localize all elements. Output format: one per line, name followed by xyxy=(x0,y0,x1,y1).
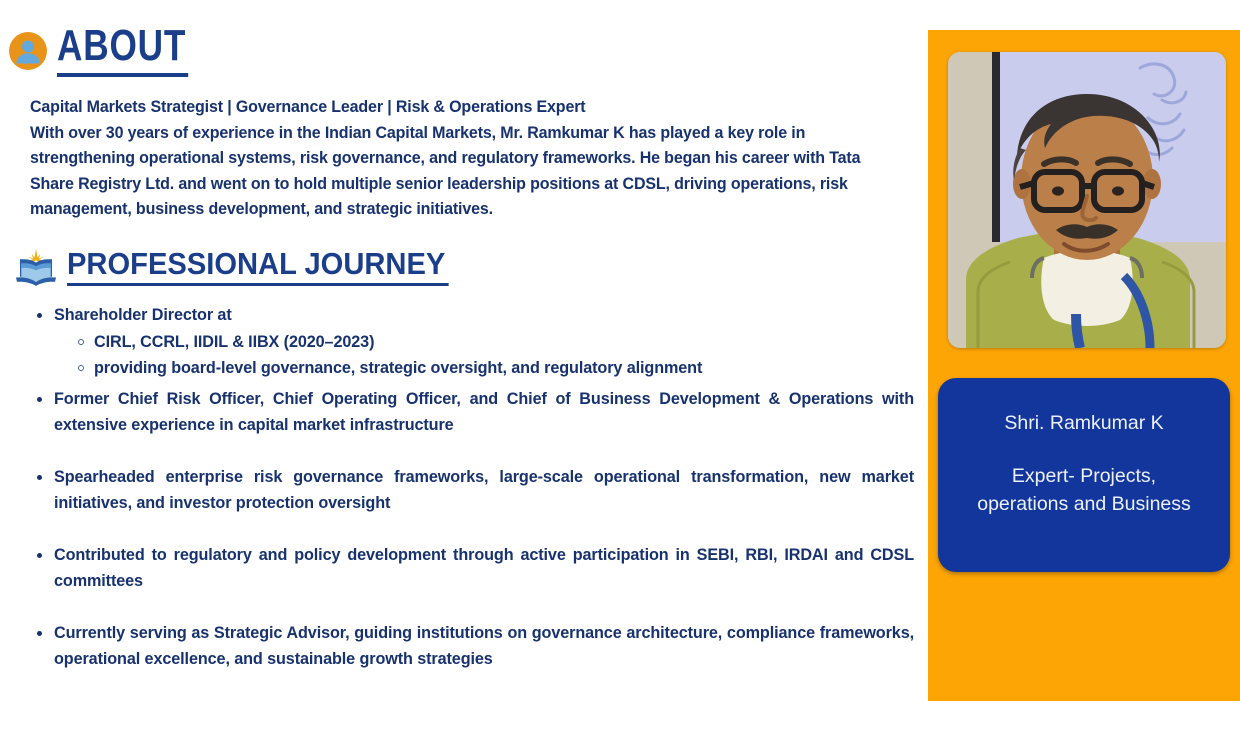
person-circle-icon xyxy=(8,31,48,71)
profile-name-card: Shri. Ramkumar K Expert- Projects, opera… xyxy=(938,378,1230,572)
list-item: Spearheaded enterprise risk governance f… xyxy=(30,465,914,516)
profile-photo xyxy=(948,52,1226,348)
open-book-star-icon xyxy=(14,248,58,286)
list-item-label: Spearheaded enterprise risk governance f… xyxy=(54,465,914,516)
person-name: Shri. Ramkumar K xyxy=(1004,410,1163,436)
about-body: Capital Markets Strategist | Governance … xyxy=(30,94,883,222)
sub-list-item: CIRL, CCRL, IIDIL & IIBX (2020–2023) xyxy=(70,329,914,355)
bullet-dot-icon xyxy=(37,553,42,558)
person-role: Expert- Projects, operations and Busines… xyxy=(969,462,1199,518)
list-item-label: Shareholder Director at xyxy=(54,303,914,329)
sub-list-item: providing board-level governance, strate… xyxy=(70,355,914,381)
list-item: Contributed to regulatory and policy dev… xyxy=(30,543,914,594)
slide-canvas: ABOUT Capital Markets Strategist | Gover… xyxy=(0,0,1240,731)
bullet-circle-icon xyxy=(78,365,84,371)
about-tagline: Capital Markets Strategist | Governance … xyxy=(30,94,883,120)
list-item-label: Former Chief Risk Officer, Chief Operati… xyxy=(54,387,914,438)
bullet-dot-icon xyxy=(37,631,42,636)
journey-title: PROFESSIONAL JOURNEY xyxy=(67,248,445,286)
bullet-dot-icon xyxy=(37,397,42,402)
sub-list-item-label: CIRL, CCRL, IIDIL & IIBX (2020–2023) xyxy=(94,333,374,351)
list-item-label: Contributed to regulatory and policy dev… xyxy=(54,543,914,594)
bullet-dot-icon xyxy=(37,475,42,480)
about-description: With over 30 years of experience in the … xyxy=(30,120,883,222)
about-title: ABOUT xyxy=(57,24,186,77)
bullet-dot-icon xyxy=(37,313,42,318)
list-item-label: Currently serving as Strategic Advisor, … xyxy=(54,621,914,672)
profile-panel: Shri. Ramkumar K Expert- Projects, opera… xyxy=(928,30,1240,701)
sub-list-item-label: providing board-level governance, strate… xyxy=(94,359,702,377)
bullet-circle-icon xyxy=(78,339,84,345)
about-section-header: ABOUT xyxy=(8,24,906,77)
journey-section-header: PROFESSIONAL JOURNEY xyxy=(14,248,906,286)
list-item: Former Chief Risk Officer, Chief Operati… xyxy=(30,387,914,438)
list-item: Currently serving as Strategic Advisor, … xyxy=(30,621,914,672)
portrait-illustration xyxy=(948,52,1226,348)
content-column: ABOUT Capital Markets Strategist | Gover… xyxy=(0,0,920,731)
journey-bullet-list: Shareholder Director at CIRL, CCRL, IIDI… xyxy=(30,303,914,673)
sub-list: CIRL, CCRL, IIDIL & IIBX (2020–2023) pro… xyxy=(54,329,914,381)
list-item: Shareholder Director at CIRL, CCRL, IIDI… xyxy=(30,303,914,382)
